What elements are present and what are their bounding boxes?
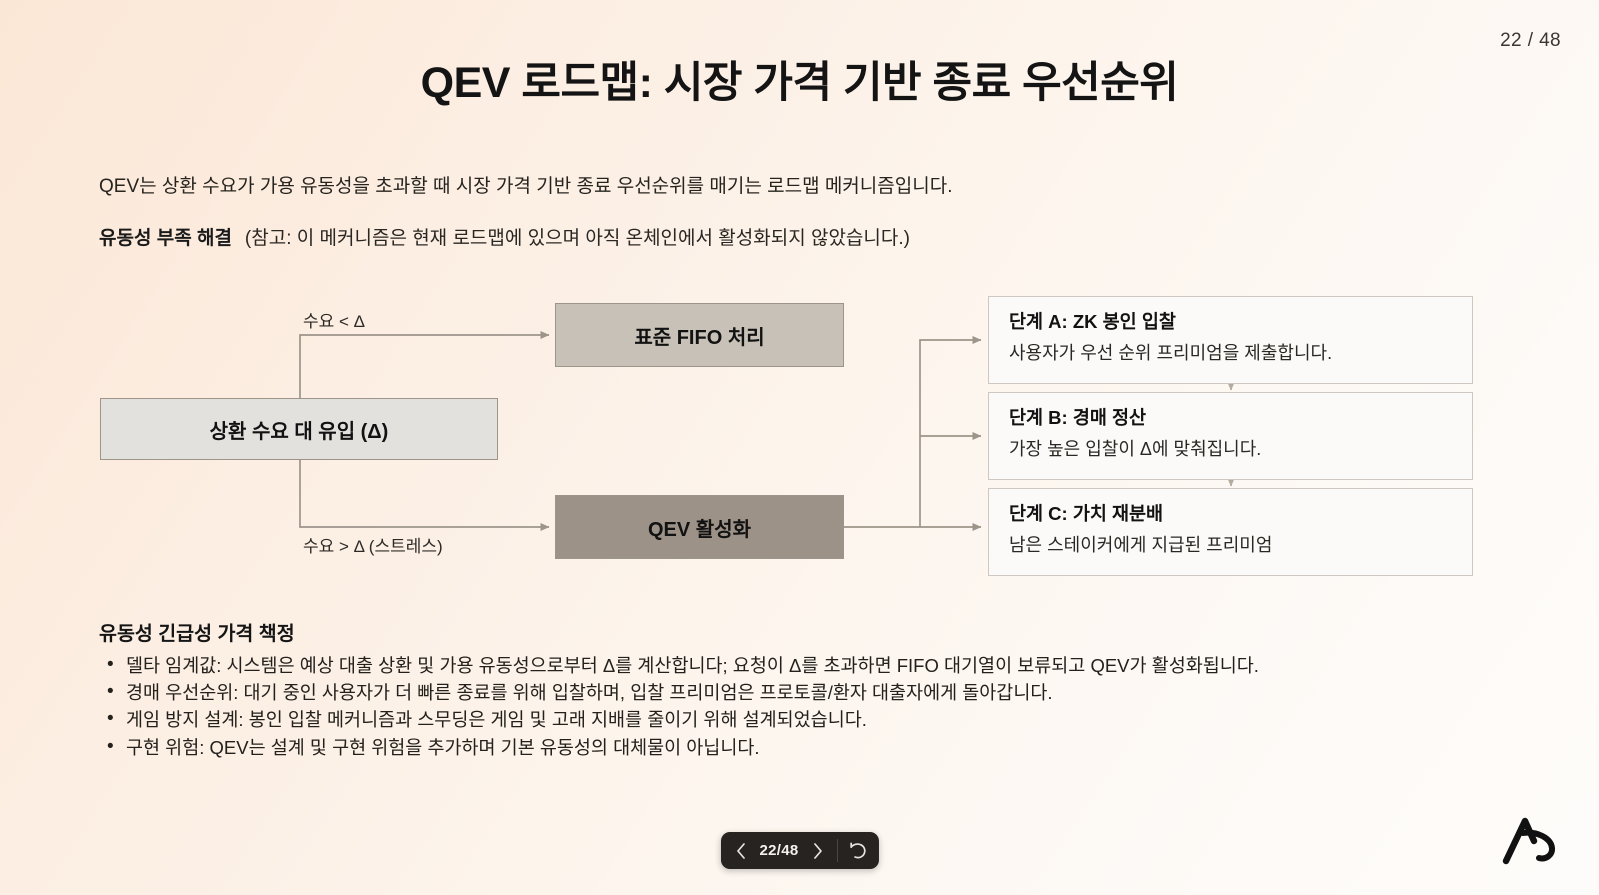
list-item: 게임 방지 설계: 봉인 입찰 메커니즘과 스무딩은 게임 및 고래 지배를 줄…: [99, 706, 1259, 733]
stage-card-b-title: 단계 B: 경매 정산: [1009, 404, 1472, 430]
edge-label-demand-below: 수요 < Δ: [303, 307, 365, 332]
flow-diagram: 수요 < Δ 수요 > Δ (스트레스) 상환 수요 대 유입 (Δ) 표준 F…: [0, 286, 1599, 576]
stage-card-a-desc: 사용자가 우선 순위 프리미엄을 제출합니다.: [1009, 339, 1472, 365]
stage-card-b: 단계 B: 경매 정산 가장 높은 입찰이 Δ에 맞춰집니다.: [988, 392, 1473, 480]
section-heading: 유동성 긴급성 가격 책정: [99, 617, 295, 646]
node-qev-activation: QEV 활성화: [555, 495, 844, 559]
stage-card-c: 단계 C: 가치 재분배 남은 스테이커에게 지급된 프리미엄: [988, 488, 1473, 576]
edge-label-demand-above: 수요 > Δ (스트레스): [303, 532, 443, 557]
node-redemption-demand: 상환 수요 대 유입 (Δ): [100, 398, 498, 460]
node-standard-fifo: 표준 FIFO 처리: [555, 303, 844, 367]
brand-logo: [1501, 811, 1563, 867]
chevron-right-icon: [813, 843, 823, 859]
stage-card-c-title: 단계 C: 가치 재분배: [1009, 500, 1472, 526]
bullet-list: 델타 임계값: 시스템은 예상 대출 상환 및 가용 유동성으로부터 Δ를 계산…: [99, 652, 1259, 761]
nav-divider: [837, 839, 838, 862]
note-parenthetical: (참고: 이 메커니즘은 현재 로드맵에 있으며 아직 온체인에서 활성화되지 …: [245, 225, 910, 253]
page-title: QEV 로드맵: 시장 가격 기반 종료 우선순위: [0, 48, 1599, 110]
list-item: 구현 위험: QEV는 설계 및 구현 위험을 추가하며 기본 유동성의 대체물…: [99, 734, 1259, 761]
chevron-left-icon: [735, 843, 745, 859]
note-row: 유동성 부족 해결 (참고: 이 메커니즘은 현재 로드맵에 있으며 아직 온체…: [99, 225, 910, 253]
stage-card-c-desc: 남은 스테이커에게 지급된 프리미엄: [1009, 531, 1472, 557]
list-item: 델타 임계값: 시스템은 예상 대출 상환 및 가용 유동성으로부터 Δ를 계산…: [99, 652, 1259, 679]
prev-slide-button[interactable]: [726, 832, 754, 869]
intro-paragraph: QEV는 상환 수요가 가용 유동성을 초과할 때 시장 가격 기반 종료 우선…: [99, 173, 952, 201]
stage-card-a-title: 단계 A: ZK 봉인 입찰: [1009, 308, 1472, 334]
reset-button[interactable]: [843, 832, 873, 869]
next-slide-button[interactable]: [804, 832, 832, 869]
slide-canvas: 22 / 48 QEV 로드맵: 시장 가격 기반 종료 우선순위 QEV는 상…: [0, 0, 1599, 895]
slide-navigation: 22/48: [720, 832, 878, 869]
slide-counter: 22/48: [754, 842, 803, 859]
stage-card-b-desc: 가장 높은 입찰이 Δ에 맞춰집니다.: [1009, 435, 1472, 461]
note-label: 유동성 부족 해결: [99, 225, 232, 253]
list-item: 경매 우선순위: 대기 중인 사용자가 더 빠른 종료를 위해 입찰하며, 입찰…: [99, 679, 1259, 706]
reset-icon: [848, 842, 867, 859]
stage-card-a: 단계 A: ZK 봉인 입찰 사용자가 우선 순위 프리미엄을 제출합니다.: [988, 296, 1473, 384]
